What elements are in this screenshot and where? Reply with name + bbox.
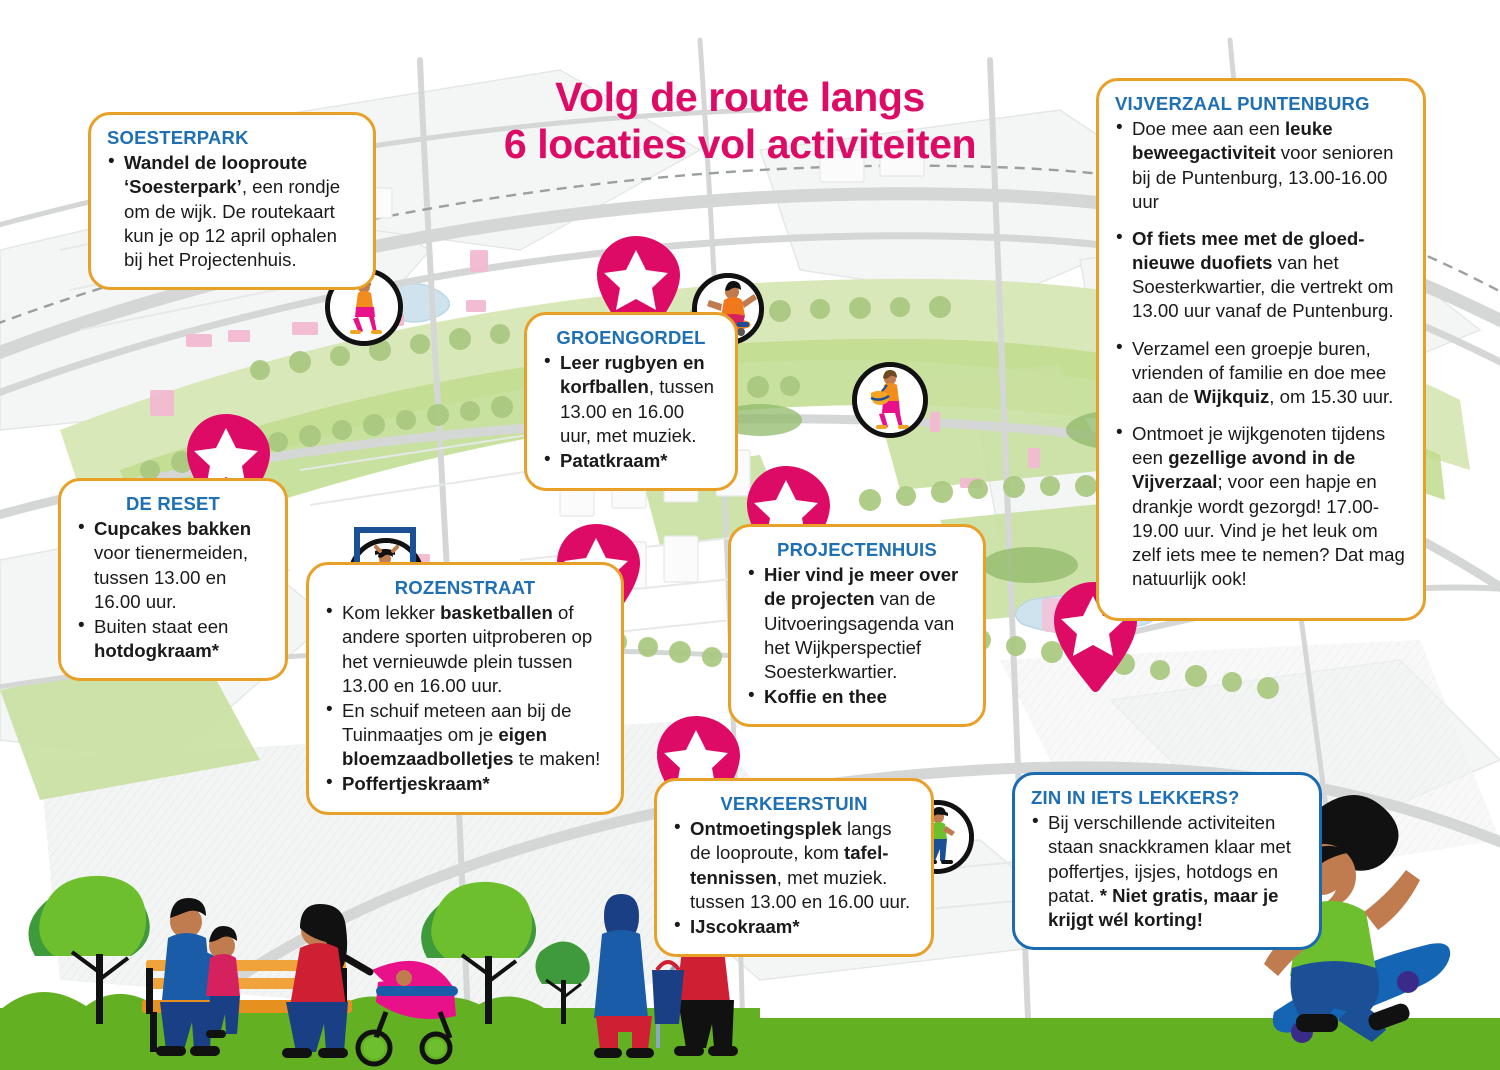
callout-bullet: Verzamel een groepje buren, vrienden of …: [1115, 337, 1407, 410]
callout-bullet: Hier vind je meer over de projecten van …: [747, 563, 967, 684]
callout-bullet: Cupcakes bakken voor tienermeiden, tusse…: [77, 517, 269, 614]
callout-heading: SOESTERPARK: [107, 127, 357, 149]
callout-heading: ROZENSTRAAT: [325, 577, 605, 599]
callout-bullet: Leer rugbyen en korfballen, tussen 13.00…: [543, 351, 719, 448]
callout-groengordel[interactable]: GROENGORDEL Leer rugbyen en korfballen, …: [524, 312, 738, 491]
callout-bullet: Koffie en thee: [747, 685, 967, 709]
callout-bullet: Ontmoet je wijkgenoten tijdens een gezel…: [1115, 422, 1407, 591]
callout-heading: PROJECTENHUIS: [747, 539, 967, 561]
callout-bullet: Buiten staat een hotdogkraam*: [77, 615, 269, 663]
callout-soesterpark[interactable]: SOESTERPARK Wandel de looproute ‘Soester…: [88, 112, 376, 290]
callout-bullet: Bij verschillende activiteiten staan sna…: [1031, 811, 1303, 932]
callout-vijverzaal-puntenburg[interactable]: VIJVERZAAL PUNTENBURG Doe mee aan een le…: [1096, 78, 1426, 621]
callout-list: Hier vind je meer over de projecten van …: [747, 563, 967, 709]
person-child: [206, 926, 240, 1038]
callout-projectenhuis[interactable]: PROJECTENHUIS Hier vind je meer over de …: [728, 524, 986, 727]
callout-bullet: IJscokraam*: [673, 915, 915, 939]
badge-shopper: [852, 362, 928, 438]
callout-bullet: Wandel de looproute ‘Soesterpark’, een r…: [107, 151, 357, 272]
page-title: Volg de route langs 6 locaties vol activ…: [440, 74, 1040, 167]
callout-bullet: En schuif meteen aan bij de Tuinmaatjes …: [325, 699, 605, 772]
callout-verkeerstuin[interactable]: VERKEERSTUIN Ontmoetingsplek langs de lo…: [654, 778, 934, 957]
callout-heading: GROENGORDEL: [543, 327, 719, 349]
callout-list: Doe mee aan een leuke beweegactiviteit v…: [1115, 117, 1407, 591]
callout-list: Leer rugbyen en korfballen, tussen 13.00…: [543, 351, 719, 473]
callout-bullet: Kom lekker basketballen of andere sporte…: [325, 601, 605, 698]
callout-heading: ZIN IN IETS LEKKERS?: [1031, 787, 1303, 809]
callout-bullet: Ontmoetingsplek langs de looproute, kom …: [673, 817, 915, 914]
callout-bullet: Patatkraam*: [543, 449, 719, 473]
callout-rozenstraat[interactable]: ROZENSTRAAT Kom lekker basketballen of a…: [306, 562, 624, 815]
callout-bullet: Poffertjeskraam*: [325, 772, 605, 796]
callout-list: Bij verschillende activiteiten staan sna…: [1031, 811, 1303, 932]
callout-list: Cupcakes bakken voor tienermeiden, tusse…: [77, 517, 269, 663]
callout-zin-in-iets-lekkers[interactable]: ZIN IN IETS LEKKERS? Bij verschillende a…: [1012, 772, 1322, 950]
callout-heading: VIJVERZAAL PUNTENBURG: [1115, 93, 1407, 115]
page-title-line1: Volg de route langs: [440, 74, 1040, 121]
callout-bullet: Of fiets mee met de gloed-nieuwe duofiet…: [1115, 227, 1407, 324]
callout-heading: VERKEERSTUIN: [673, 793, 915, 815]
callout-de-reset[interactable]: DE RESET Cupcakes bakken voor tienermeid…: [58, 478, 288, 681]
park-people-illustration: [0, 860, 760, 1070]
page-title-line2: 6 locaties vol activiteiten: [440, 121, 1040, 168]
shopper-icon: [857, 367, 923, 433]
callout-list: Kom lekker basketballen of andere sporte…: [325, 601, 605, 796]
callout-bullet: Doe mee aan een leuke beweegactiviteit v…: [1115, 117, 1407, 214]
callout-list: Wandel de looproute ‘Soesterpark’, een r…: [107, 151, 357, 272]
callout-heading: DE RESET: [77, 493, 269, 515]
callout-list: Ontmoetingsplek langs de looproute, kom …: [673, 817, 915, 939]
